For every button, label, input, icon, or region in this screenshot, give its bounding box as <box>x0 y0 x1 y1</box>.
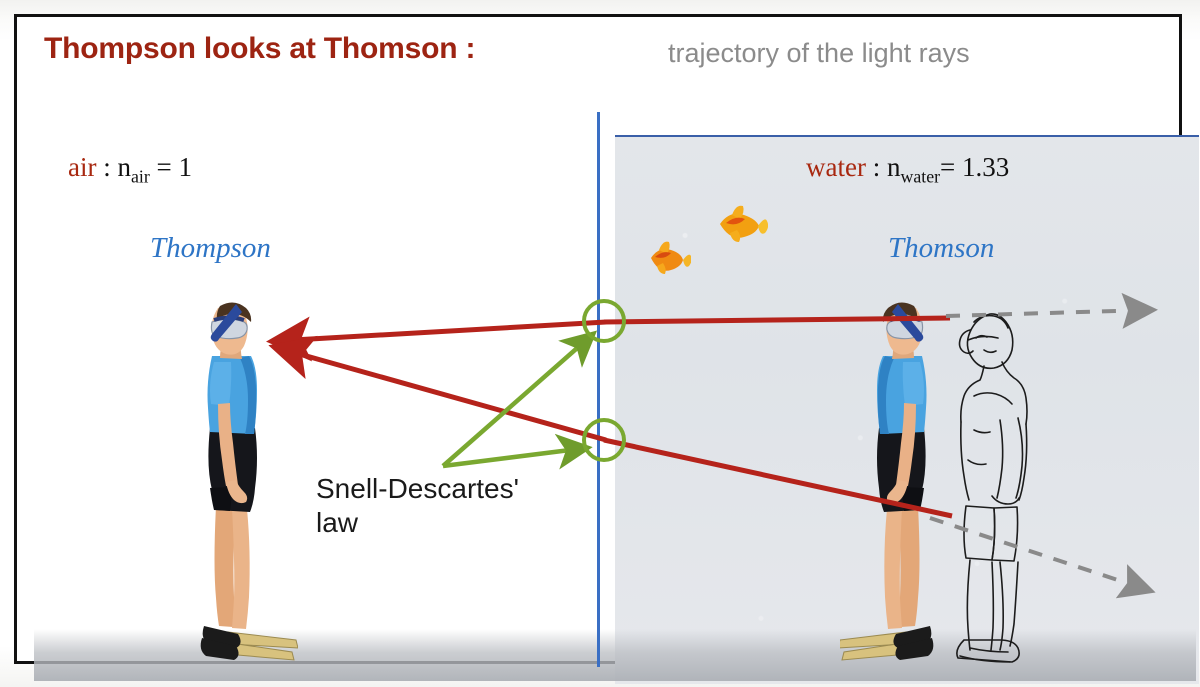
water-medium-name: water <box>806 152 866 182</box>
water-value: 1.33 <box>962 152 1009 182</box>
air-symbol: n <box>118 152 132 182</box>
water-equals: = <box>940 152 962 182</box>
air-water-interface-line <box>597 112 600 667</box>
page-subtitle: trajectory of the light rays <box>668 38 970 69</box>
water-separator: : <box>866 152 887 182</box>
water-symbol: n <box>887 152 901 182</box>
label-thomson: Thomson <box>888 232 994 265</box>
water-index-label: water : nwater= 1.33 <box>806 152 1009 187</box>
air-subscript: air <box>131 166 150 186</box>
air-separator: : <box>96 152 117 182</box>
fish-icon <box>645 240 691 276</box>
label-thompson: Thompson <box>150 232 271 265</box>
air-equals: = <box>150 152 179 182</box>
flippers-icon <box>840 626 933 660</box>
page-title: Thompson looks at Thomson : <box>44 32 475 66</box>
snell-descartes-law-label: Snell-Descartes' law <box>316 472 519 539</box>
air-value: 1 <box>179 152 193 182</box>
slide-canvas: Thompson looks at Thomson : trajectory o… <box>0 0 1200 687</box>
air-medium-name: air <box>68 152 96 182</box>
diver-thompson <box>188 300 298 666</box>
fish-icon <box>714 204 768 244</box>
air-index-label: air : nair = 1 <box>68 152 192 187</box>
virtual-image-outline <box>930 300 1042 668</box>
flippers-icon <box>201 626 298 660</box>
water-subscript: water <box>900 166 940 186</box>
